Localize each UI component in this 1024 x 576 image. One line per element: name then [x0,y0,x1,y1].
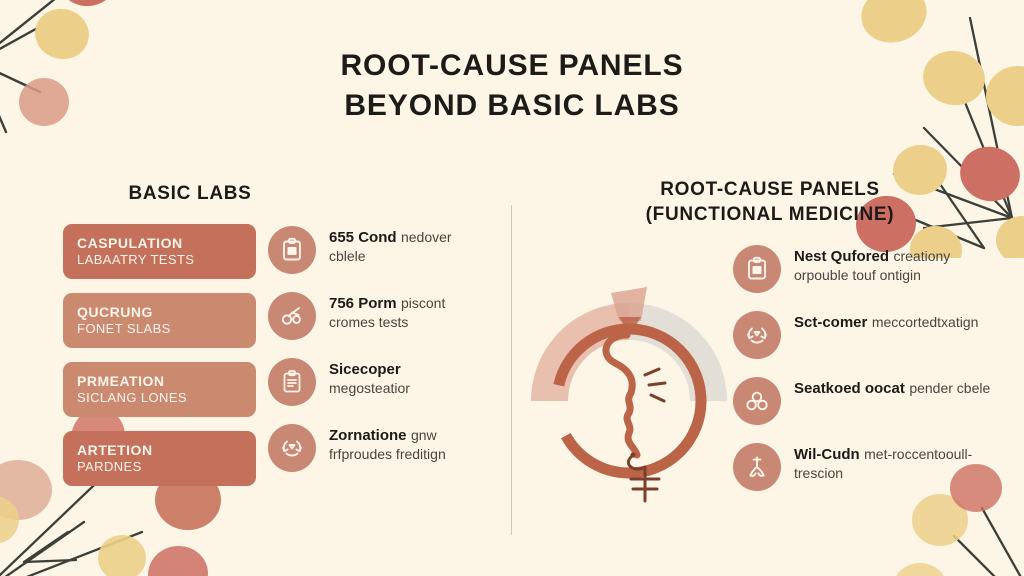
list-item-text: Wil-Cudn met-roccentooull-trescion [794,443,993,483]
pill-item[interactable]: PRMEATION SICLANG LONES [63,362,256,417]
list-item-title: 655 Cond [329,229,397,246]
pill-line-2: LABAATRY TESTS [77,252,242,268]
pill-line-1: QUCRUNG [77,304,242,322]
list-item[interactable]: Nest Qufored creationy orpouble touf ont… [733,245,993,293]
circular-ring-figure-illustration [519,243,739,513]
basic-labs-list: 655 Cond nedover cblele 756 Porm piscont… [268,226,483,490]
list-item[interactable]: 756 Porm piscont cromes tests [268,292,483,340]
lungs-icon [733,443,781,491]
list-item-title: Nest Qufored [794,248,889,265]
column-divider [511,205,512,535]
list-item-text: Seatkoed oocat pender cbele [794,377,990,399]
list-item-text: Zornatione gnw frfproudes freditign [329,424,483,464]
list-item-title: 756 Porm [329,295,397,312]
microbiome-icon [733,377,781,425]
pill-line-2: FONET SLABS [77,321,242,337]
pill-line-1: CASPULATION [77,235,242,253]
list-item-subtitle: pender cbele [909,380,990,396]
pill-item[interactable]: ARTETION PARDNES [63,431,256,486]
clipboard-icon [733,245,781,293]
list-item-text: Nest Qufored creationy orpouble touf ont… [794,245,993,285]
list-item-title: Sct-comer [794,314,867,331]
list-item[interactable]: Wil-Cudn met-roccentooull-trescion [733,443,993,491]
pill-line-1: ARTETION [77,442,242,460]
list-item-title: Seatkoed oocat [794,380,905,397]
clipboard-lines-icon [268,358,316,406]
title-line-1: ROOT-CAUSE PANELS [0,46,1024,86]
recycle-arrows-icon [268,424,316,472]
left-column-heading: BASIC LABS [60,182,320,207]
right-column-heading: ROOT-CAUSE PANELS (FUNCTIONAL MEDICINE) [600,178,940,227]
infographic-poster: ROOT-CAUSE PANELS BEYOND BASIC LABS BASI… [0,0,1024,576]
pill-line-2: PARDNES [77,459,242,475]
list-item[interactable]: Sct-comer meccortedtxatign [733,311,993,359]
list-item-title: Sicecoper [329,361,401,378]
list-item-subtitle: megosteatior [329,380,410,396]
pill-line-1: PRMEATION [77,373,242,391]
poster-title: ROOT-CAUSE PANELS BEYOND BASIC LABS [0,46,1024,126]
root-cause-panels-list: Nest Qufored creationy orpouble touf ont… [733,245,993,509]
list-item-title: Zornatione [329,427,407,444]
title-line-2: BEYOND BASIC LABS [0,86,1024,126]
list-item-subtitle: meccortedtxatign [872,314,979,330]
list-item[interactable]: Sicecoper megosteatior [268,358,483,406]
basic-labs-pill-stack: CASPULATION LABAATRY TESTS QUCRUNG FONET… [63,224,256,500]
pill-line-2: SICLANG LONES [77,390,242,406]
right-heading-line-1: ROOT-CAUSE PANELS [600,178,940,203]
list-item[interactable]: Zornatione gnw frfproudes freditign [268,424,483,472]
microscope-icon [268,292,316,340]
list-item-text: Sct-comer meccortedtxatign [794,311,978,333]
list-item-text: 756 Porm piscont cromes tests [329,292,483,332]
list-item-title: Wil-Cudn [794,446,860,463]
pill-item[interactable]: QUCRUNG FONET SLABS [63,293,256,348]
recycle-arrows-icon [733,311,781,359]
list-item[interactable]: Seatkoed oocat pender cbele [733,377,993,425]
pill-item[interactable]: CASPULATION LABAATRY TESTS [63,224,256,279]
list-item-text: Sicecoper megosteatior [329,358,483,398]
clipboard-icon [268,226,316,274]
list-item[interactable]: 655 Cond nedover cblele [268,226,483,274]
list-item-text: 655 Cond nedover cblele [329,226,483,266]
right-heading-line-2: (FUNCTIONAL MEDICINE) [600,203,940,228]
